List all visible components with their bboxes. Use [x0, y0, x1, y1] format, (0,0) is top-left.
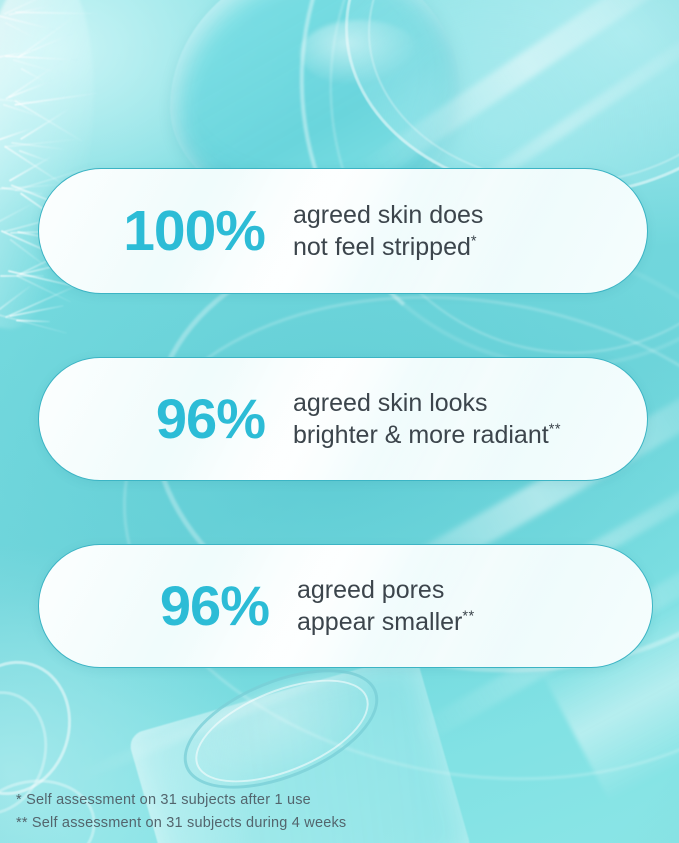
- stat-description-line-2: not feel stripped*: [293, 231, 483, 264]
- stat-description-line-1: agreed pores: [297, 574, 475, 607]
- stat-card: 96% agreed pores appear smaller**: [38, 544, 653, 668]
- stat-value: 100%: [67, 203, 265, 260]
- stat-description: agreed skin looks brighter & more radian…: [293, 387, 561, 452]
- footnote-list: * Self assessment on 31 subjects after 1…: [16, 789, 346, 835]
- stat-description-line-1: agreed skin looks: [293, 387, 561, 420]
- stat-value: 96%: [71, 578, 269, 634]
- stat-description-line-2-text: not feel stripped: [293, 233, 471, 261]
- stat-card-list: 100% agreed skin does not feel stripped*…: [0, 0, 679, 843]
- stat-description: agreed pores appear smaller**: [297, 574, 475, 639]
- stat-card: 100% agreed skin does not feel stripped*: [38, 168, 648, 294]
- stat-description-line-1: agreed skin does: [293, 199, 483, 232]
- stat-value: 96%: [67, 391, 265, 447]
- stat-description-line-2: appear smaller**: [297, 606, 475, 639]
- footnote-marker: **: [462, 609, 474, 625]
- footnote-single-asterisk: * Self assessment on 31 subjects after 1…: [16, 789, 346, 812]
- stat-card: 96% agreed skin looks brighter & more ra…: [38, 357, 648, 481]
- footnote-double-asterisk: ** Self assessment on 31 subjects during…: [16, 812, 346, 835]
- product-claims-graphic: 100% agreed skin does not feel stripped*…: [0, 0, 679, 843]
- stat-description-line-2-text: appear smaller: [297, 608, 462, 636]
- footnote-marker: **: [549, 422, 561, 438]
- stat-description-line-2-text: brighter & more radiant: [293, 421, 549, 449]
- footnote-marker: *: [471, 234, 477, 250]
- stat-description-line-2: brighter & more radiant**: [293, 419, 561, 452]
- stat-description: agreed skin does not feel stripped*: [293, 199, 483, 264]
